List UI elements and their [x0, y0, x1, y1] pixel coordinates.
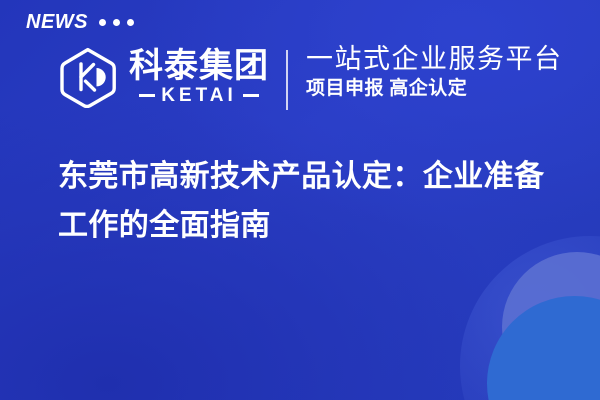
- brand-lockup: 科泰集团 KETAI: [56, 44, 269, 108]
- brand-name-en: KETAI: [161, 86, 237, 105]
- page-title: 东莞市高新技术产品认定：企业准备工作的全面指南: [58, 153, 558, 250]
- brand-divider: [286, 50, 288, 110]
- decorative-circle-bright: [487, 296, 600, 400]
- decorative-glow-circle: [460, 236, 600, 400]
- brand-names: 科泰集团 KETAI: [129, 47, 269, 105]
- rule-right-icon: [243, 94, 259, 97]
- news-strip: NEWS: [26, 12, 134, 32]
- rule-left-icon: [139, 94, 155, 97]
- news-dots-icon: [99, 19, 134, 26]
- news-banner: NEWS 科泰集团 KETAI: [0, 0, 600, 400]
- dot-icon: [99, 19, 106, 26]
- tagline-main: 一站式企业服务平台: [306, 44, 563, 75]
- brand-name-en-row: KETAI: [139, 86, 259, 105]
- brand-name-cn: 科泰集团: [129, 49, 269, 85]
- dot-icon: [113, 19, 120, 26]
- dot-icon: [127, 19, 134, 26]
- tagline-block: 一站式企业服务平台 项目申报 高企认定: [306, 44, 563, 101]
- tagline-sub: 项目申报 高企认定: [306, 78, 563, 101]
- decorative-circle-light: [502, 252, 600, 400]
- news-label: NEWS: [26, 12, 88, 32]
- ketai-k-diamond-logo-icon: [56, 44, 120, 108]
